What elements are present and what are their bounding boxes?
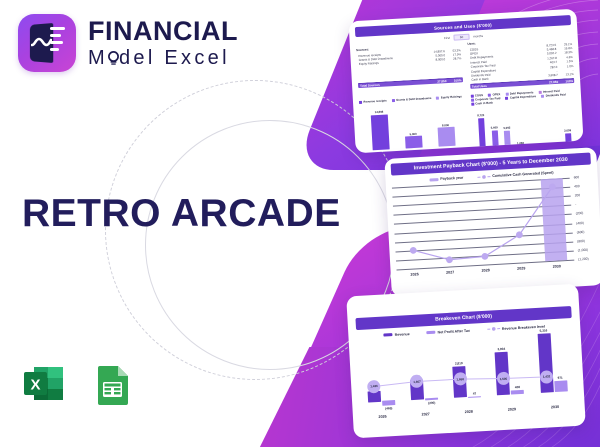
bar bbox=[565, 133, 572, 148]
legend-swatch bbox=[436, 96, 439, 99]
legend-label: Cash in Bank bbox=[475, 101, 493, 106]
google-sheets-icon bbox=[89, 360, 136, 407]
brand-name-secondary: M del Excel bbox=[88, 48, 230, 68]
logo-wave-icon bbox=[31, 36, 52, 48]
legend-label: Cumulative Cash Generated (Spent) bbox=[492, 171, 553, 178]
period-label-left: First bbox=[444, 35, 450, 39]
bar bbox=[478, 118, 486, 153]
bar bbox=[491, 130, 498, 152]
legend-label: Revenue receipts bbox=[363, 99, 386, 104]
sources-total-label: Total Sources bbox=[358, 81, 425, 89]
legend-swatch bbox=[392, 99, 395, 102]
data-point bbox=[549, 183, 556, 190]
lightbulb-o-icon bbox=[108, 48, 119, 68]
sources-bar-chart: 14,8985,0008,000 bbox=[359, 101, 466, 151]
bar bbox=[437, 127, 455, 147]
bar-column: 404 bbox=[528, 106, 536, 150]
legend-label: Payback year bbox=[440, 176, 463, 181]
legend-item: Revenue receipts bbox=[359, 99, 387, 105]
financial-model-app-icon bbox=[18, 14, 76, 72]
sources-table: Sources: Revenue receipts14,897.653.3%Gr… bbox=[356, 42, 463, 95]
bar-column: 5,000 bbox=[403, 104, 422, 149]
bar bbox=[405, 136, 423, 149]
sources-chart-block: Revenue receiptsGrants & Debt DrawdownsE… bbox=[359, 91, 467, 153]
legend-item: Equity Raisings bbox=[436, 95, 462, 100]
bar-value-label: - bbox=[556, 143, 557, 147]
data-point bbox=[516, 231, 523, 238]
data-point bbox=[410, 247, 417, 254]
bar-value-label: 14,898 bbox=[375, 110, 384, 114]
format-icons: X bbox=[20, 360, 136, 407]
legend-line-marker bbox=[487, 326, 500, 332]
row-percent: 13.1% bbox=[558, 72, 574, 77]
bar-value-label: 5,469 bbox=[491, 125, 498, 129]
data-point bbox=[481, 253, 488, 260]
bar-column: 282 bbox=[539, 105, 547, 149]
uses-rows: COGS8,723.529.1%OPEX5,468.819.6%Debt Rep… bbox=[468, 42, 574, 83]
bar-value-label: 3,609 bbox=[564, 128, 571, 132]
period-label-right: months bbox=[473, 34, 483, 39]
data-point bbox=[446, 256, 453, 263]
sources-total-pct: 100% bbox=[446, 78, 462, 83]
payback-line-series bbox=[392, 171, 600, 297]
legend-swatch bbox=[384, 333, 393, 337]
svg-text:X: X bbox=[30, 377, 40, 394]
bar-value-label: 5,000 bbox=[409, 131, 416, 135]
legend-item: Dividends Paid bbox=[541, 93, 566, 98]
sources-and-uses-card[interactable]: Sources and Uses ($'000) First 60 months… bbox=[348, 9, 583, 154]
bar-column: 5,469 bbox=[490, 108, 499, 152]
legend-swatch bbox=[505, 96, 508, 99]
legend-swatch bbox=[359, 101, 362, 104]
bar-column: 1,268 bbox=[515, 106, 524, 150]
legend-swatch bbox=[429, 178, 438, 182]
page-title: RETRO ARCADE bbox=[22, 192, 341, 236]
microsoft-excel-icon: X bbox=[20, 360, 67, 407]
logo-list-lines bbox=[50, 27, 65, 55]
uses-chart-block: COGSOPEXDebt RepaymentsInterest PaidCorp… bbox=[470, 85, 578, 153]
row-percent: 28.7% bbox=[445, 57, 461, 62]
bar-value-label: 1,268 bbox=[517, 140, 524, 144]
breakeven-plot-area: 1,040(465)1,4361,846(200)1,6672,819471,6… bbox=[357, 329, 577, 411]
brand-name-primary: FINANCIAL bbox=[88, 18, 238, 45]
brand-lockup: FINANCIAL M del Excel bbox=[18, 14, 238, 72]
breakeven-card[interactable]: Breakeven Chart ($'000) RevenueNet Profi… bbox=[346, 284, 586, 439]
uses-total-value: 27,850 bbox=[536, 80, 558, 85]
legend-line-marker bbox=[477, 174, 490, 180]
bar-value-label: 282 bbox=[542, 143, 547, 147]
brand-text: FINANCIAL M del Excel bbox=[88, 18, 238, 68]
promo-slide: FINANCIAL M del Excel RETRO ARCADE bbox=[0, 0, 600, 447]
bar bbox=[518, 145, 524, 150]
uses-bar-chart: 8,7235,4695,0921,268404282-3,609 bbox=[471, 103, 578, 153]
legend-item: Net Profit After Tax bbox=[426, 328, 470, 334]
brand-sub-post: del Excel bbox=[119, 47, 230, 69]
row-value: 3,608.7 bbox=[536, 73, 558, 79]
legend-label: Dividends Paid bbox=[546, 93, 566, 98]
sources-uses-charts: Revenue receiptsGrants & Debt DrawdownsE… bbox=[359, 85, 578, 153]
legend-label: Revenue bbox=[395, 332, 410, 337]
bar-column: 5,092 bbox=[502, 107, 511, 151]
bar-value-label: 404 bbox=[530, 143, 535, 147]
legend-item: Capital Expenditure bbox=[505, 94, 536, 100]
bar-column: 14,898 bbox=[370, 106, 389, 151]
legend-label: Grants & Debt Drawdowns bbox=[396, 96, 431, 102]
bar-column: 3,609 bbox=[563, 104, 572, 148]
bar-column: - bbox=[551, 104, 559, 148]
legend-item: Grants & Debt Drawdowns bbox=[392, 96, 432, 102]
legend-item: Revenue bbox=[384, 332, 410, 337]
uses-total-pct: 100% bbox=[558, 79, 574, 84]
legend-swatch bbox=[541, 94, 544, 97]
legend-item: Cash in Bank bbox=[471, 101, 493, 106]
bar-column: 8,723 bbox=[477, 108, 486, 152]
bar-value-label: 8,723 bbox=[477, 113, 484, 117]
brand-sub-pre: M bbox=[88, 47, 108, 69]
bar-column: 8,000 bbox=[436, 102, 455, 147]
investment-payback-card[interactable]: Investment Payback Chart ($'000) - 5 Yea… bbox=[384, 147, 600, 297]
legend-item: Payback year bbox=[429, 176, 463, 182]
legend-swatch bbox=[471, 102, 474, 105]
legend-label: Net Profit After Tax bbox=[437, 328, 470, 334]
bar bbox=[504, 131, 511, 151]
period-input[interactable]: 60 bbox=[454, 33, 470, 40]
bar bbox=[371, 114, 390, 150]
bar-value-label: 8,000 bbox=[442, 123, 449, 127]
payback-plot-area: 600400200-(200)(400)(600)(800)(1,000)(1,… bbox=[392, 178, 574, 270]
legend-label: Equity Raisings bbox=[441, 95, 462, 100]
uses-table: Uses: COGS8,723.529.1%OPEX5,468.819.6%De… bbox=[467, 36, 574, 89]
legend-swatch bbox=[426, 330, 435, 334]
sources-total-value: 27,850 bbox=[424, 79, 446, 84]
bar-value-label: 5,092 bbox=[503, 126, 510, 130]
legend-label: Capital Expenditure bbox=[510, 94, 536, 99]
